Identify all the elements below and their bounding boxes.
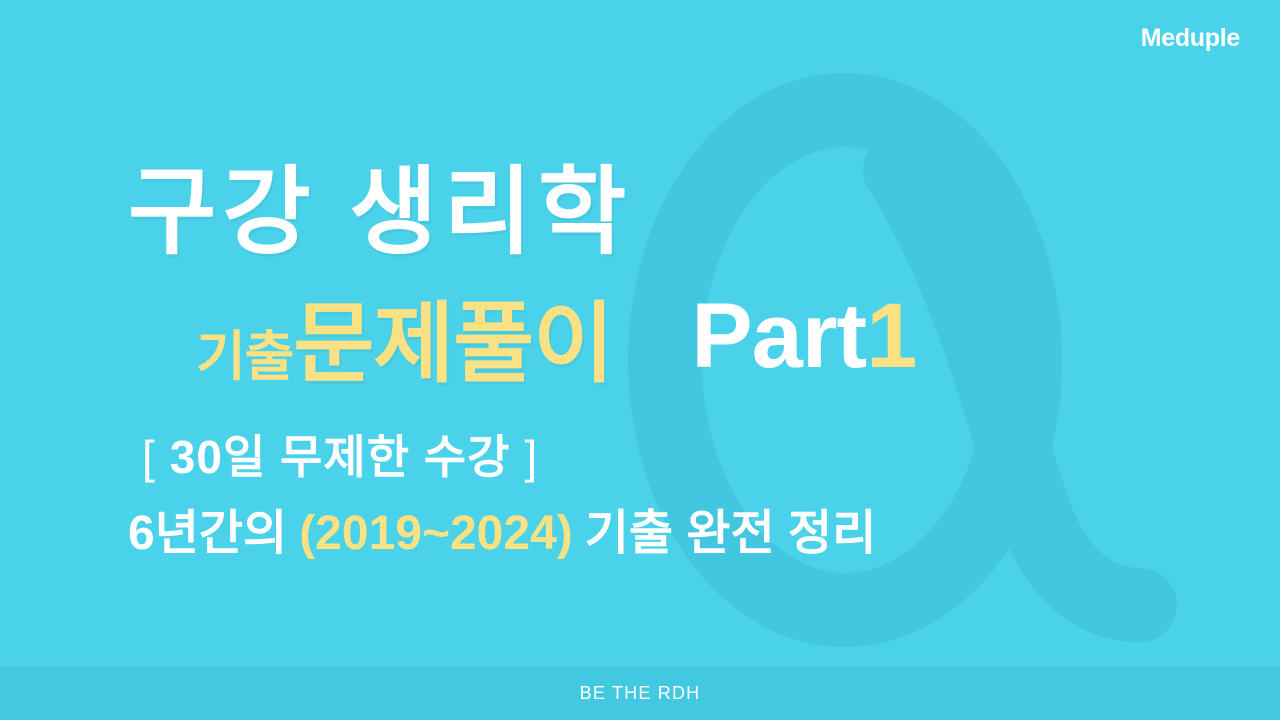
bracket-line: [30일 무제한 수강] [128, 430, 552, 485]
subtitle-prefix: 기출 [196, 330, 293, 384]
subtitle-row: 기출 문제풀이 Part1 [196, 296, 916, 388]
bracket-open: [ [128, 431, 170, 483]
title-block: 구강 생리학 기출 문제풀이 Part1 [30일 무제한 수강] 6년간의(2… [0, 0, 1280, 667]
bracket-text: 30일 무제한 수강 [170, 431, 511, 483]
years-suffix: 기출 완전 정리 [585, 507, 877, 560]
years-prefix: 6년간의 [128, 507, 287, 560]
part-word: Part [691, 285, 866, 387]
brand-logo: Meduple [1141, 26, 1240, 51]
page-title: 구강 생리학 [128, 158, 632, 268]
slide-canvas: Meduple 구강 생리학 기출 문제풀이 Part1 [30일 무제한 수강… [0, 0, 1280, 720]
years-range: (2019~2024) [299, 507, 573, 560]
footer-tagline: BE THE RDH [580, 683, 701, 704]
subtitle-main: 문제풀이 [293, 300, 613, 388]
bracket-close: ] [510, 431, 552, 483]
part-label: Part1 [691, 290, 916, 382]
part-number: 1 [866, 285, 916, 387]
footer-bar: BE THE RDH [0, 667, 1280, 720]
years-line: 6년간의(2019~2024)기출 완전 정리 [128, 505, 876, 563]
